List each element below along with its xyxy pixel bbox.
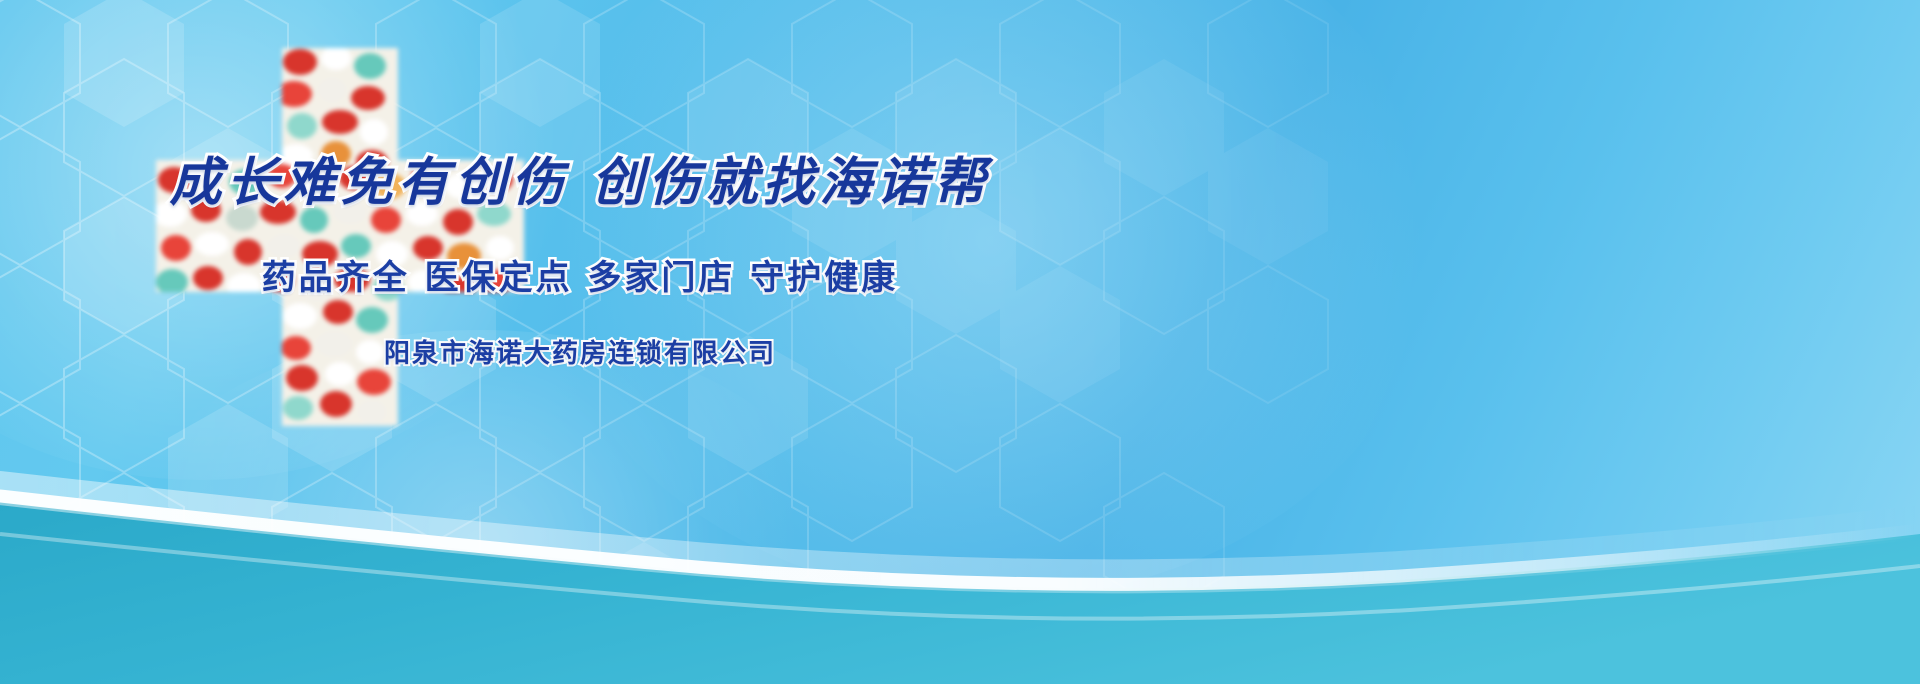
pharmacist-photo	[1100, 0, 1920, 684]
pill-cross-icon	[150, 42, 530, 432]
pharmacy-banner: 成长难免有创伤 创伤就找海诺帮 药品齐全 医保定点 多家门店 守护健康 阳泉市海…	[0, 0, 1920, 684]
